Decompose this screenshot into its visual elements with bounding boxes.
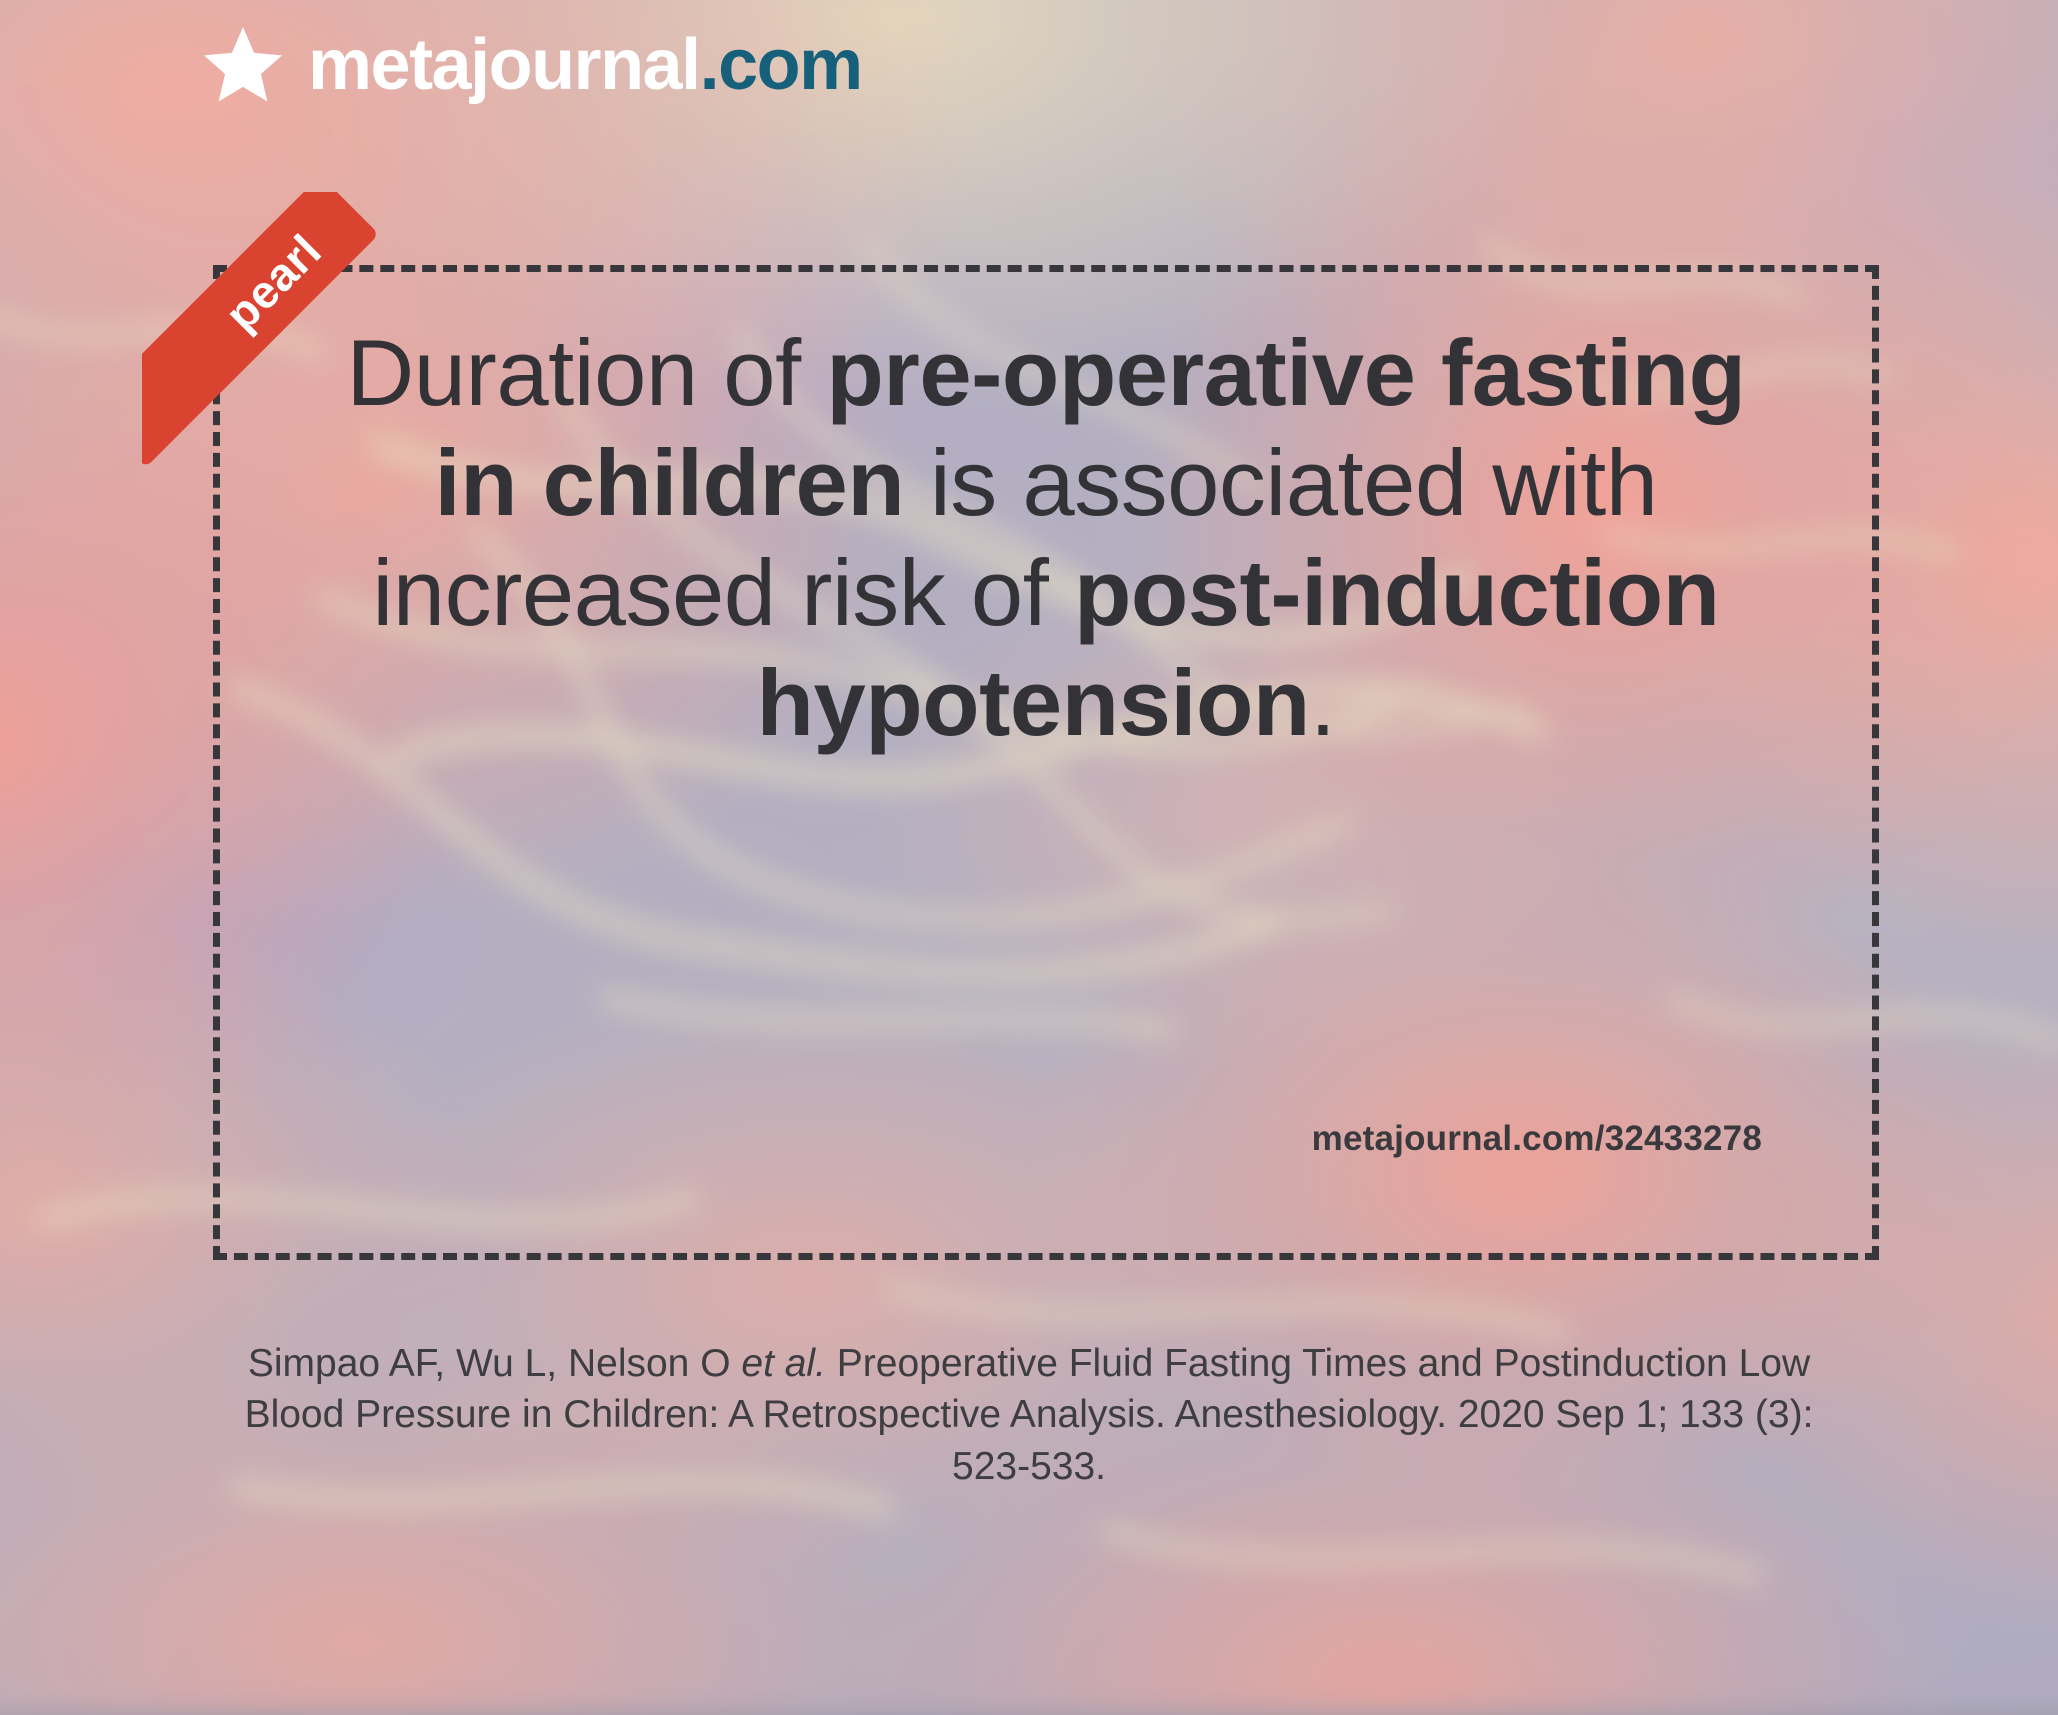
quote-segment-plain-3: . xyxy=(1310,650,1336,755)
logo-name-primary: metajournal xyxy=(308,25,700,105)
logo-name-suffix: .com xyxy=(700,25,862,105)
citation: Simpao AF, Wu L, Nelson O et al. Preoper… xyxy=(210,1338,1848,1492)
citation-et-al: et al. xyxy=(741,1342,826,1385)
source-url[interactable]: metajournal.com/32433278 xyxy=(1312,1119,1762,1159)
quote-segment-plain-1: Duration of xyxy=(346,320,826,425)
citation-authors: Simpao AF, Wu L, Nelson O xyxy=(248,1342,742,1385)
star-icon xyxy=(200,22,286,108)
pearl-quote: Duration of pre-operative fasting in chi… xyxy=(332,318,1760,758)
site-logo[interactable]: metajournal.com xyxy=(200,22,862,108)
logo-wordmark: metajournal.com xyxy=(308,29,862,101)
pearl-card: pearl Duration of pre-operative fasting … xyxy=(213,265,1879,1260)
